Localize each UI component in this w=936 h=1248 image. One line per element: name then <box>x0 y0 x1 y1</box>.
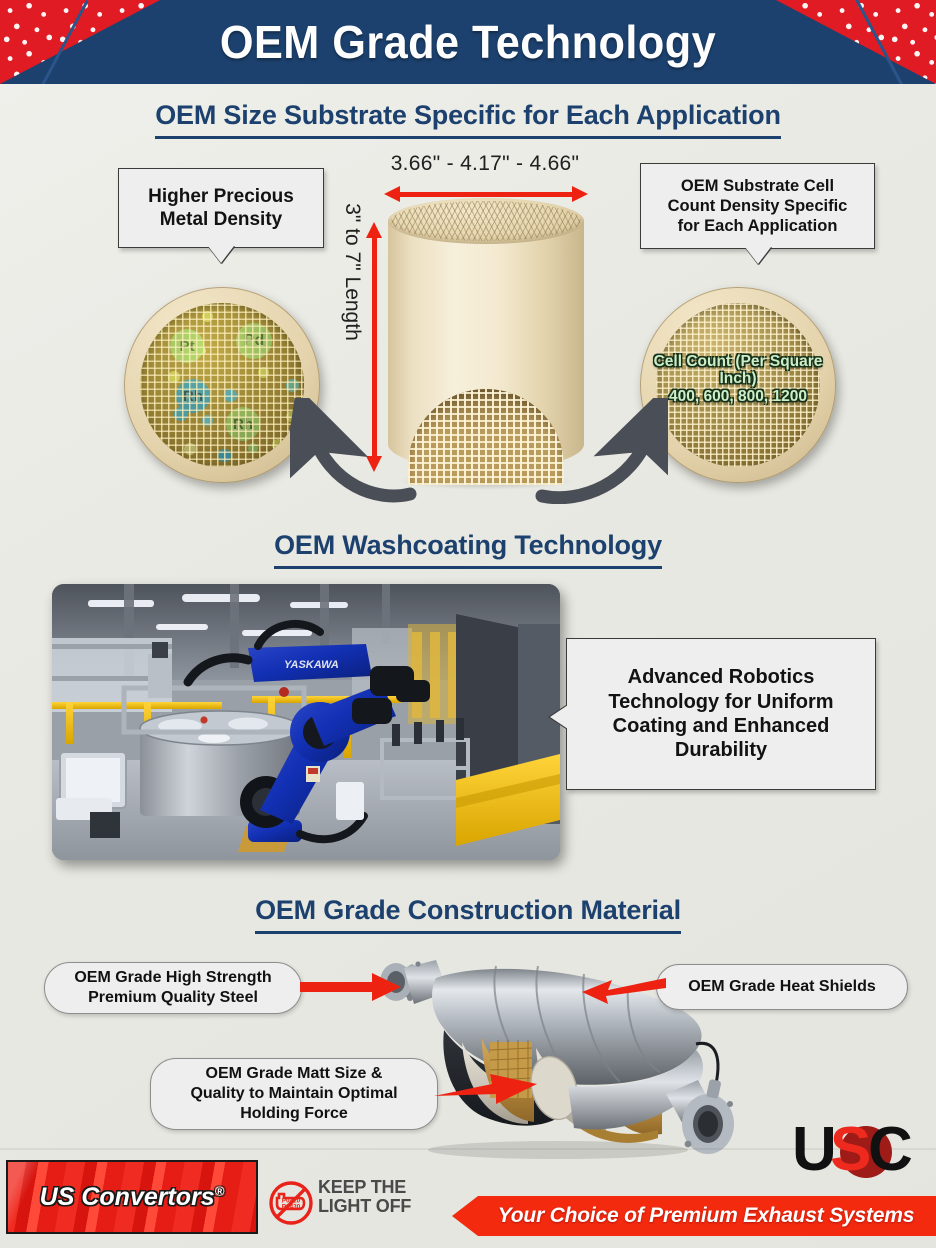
callout-line: Count Density Specific <box>668 196 848 216</box>
callout-line: Higher Precious <box>148 185 294 208</box>
cell-count-values: 400, 600, 800, 1200 <box>640 388 836 405</box>
callout-high-strength-steel: OEM Grade High Strength Premium Quality … <box>44 962 302 1014</box>
infographic-page: OEM Grade Technology OEM Size Substrate … <box>0 0 936 1248</box>
callout-advanced-robotics: Advanced Robotics Technology for Uniform… <box>566 638 876 790</box>
callout-line: OEM Grade Matt Size & <box>190 1064 397 1084</box>
callout-higher-precious-metal-density: Higher Precious Metal Density <box>118 168 324 248</box>
callout-line: Technology for Uniform <box>608 690 833 714</box>
length-label: 3" to 7" Length <box>340 182 364 362</box>
no-check-engine-light-icon: P0420 P0430 <box>268 1180 314 1226</box>
callout-line: Metal Density <box>148 208 294 231</box>
callout-heat-shields: OEM Grade Heat Shields <box>656 964 908 1010</box>
metal-dot-rh-green: Rh <box>226 407 260 441</box>
usc-logo: U S C <box>790 1112 928 1184</box>
brand-name: US Convertors <box>40 1183 215 1211</box>
section-heading-washcoating-text: OEM Washcoating Technology <box>274 530 662 569</box>
pointer-arrow-matt <box>434 1072 538 1106</box>
section-heading-substrate-text: OEM Size Substrate Specific for Each App… <box>155 100 781 139</box>
section-heading-substrate: OEM Size Substrate Specific for Each App… <box>0 100 936 139</box>
callout-line: Quality to Maintain Optimal <box>190 1084 397 1104</box>
page-title: OEM Grade Technology <box>28 0 908 84</box>
washcoating-robot-photo: YASKAWA <box>52 584 560 860</box>
keep-light-off-text: KEEP THE LIGHT OFF <box>318 1178 411 1216</box>
cell-count-title: Cell Count (Per Square Inch) <box>640 353 836 388</box>
callout-line: OEM Substrate Cell <box>668 176 848 196</box>
diameter-label: 3.66" - 4.17" - 4.66" <box>330 152 640 176</box>
keep-light-line-2: LIGHT OFF <box>318 1197 411 1216</box>
pointer-arrow-to-left-circle <box>290 398 420 504</box>
cell-count-caption: Cell Count (Per Square Inch) 400, 600, 8… <box>640 353 836 405</box>
callout-matt-size-quality: OEM Grade Matt Size & Quality to Maintai… <box>150 1058 438 1130</box>
callout-line: Durability <box>608 738 833 762</box>
callout-line: Advanced Robotics <box>608 665 833 689</box>
brand-logo-box: US Convertors® <box>6 1160 258 1234</box>
tagline-banner: Your Choice of Premium Exhaust Systems <box>452 1196 936 1236</box>
section-heading-construction-text: OEM Grade Construction Material <box>255 895 681 934</box>
pointer-arrow-to-right-circle <box>528 398 668 504</box>
usc-logo-s: S <box>830 1115 871 1184</box>
callout-line: Holding Force <box>190 1104 397 1124</box>
tagline-text: Your Choice of Premium Exhaust Systems <box>480 1204 914 1228</box>
callout-line: for Each Application <box>668 216 848 236</box>
callout-line: Premium Quality Steel <box>74 988 271 1008</box>
metal-dot-rh-blue: Rh <box>176 379 210 413</box>
metal-dot-pd: Pd <box>236 323 272 359</box>
callout-line: OEM Grade High Strength <box>74 968 271 988</box>
pointer-arrow-steel <box>300 972 402 1002</box>
keep-light-off-badge: P0420 P0430 KEEP THE LIGHT OFF <box>268 1176 436 1228</box>
keep-light-line-1: KEEP THE <box>318 1178 411 1197</box>
callout-oem-substrate-cell-count: OEM Substrate Cell Count Density Specifi… <box>640 163 875 249</box>
usc-logo-c: C <box>868 1115 913 1184</box>
section-heading-washcoating: OEM Washcoating Technology <box>0 530 936 569</box>
robot-brand-label: YASKAWA <box>284 659 339 671</box>
section-heading-construction: OEM Grade Construction Material <box>0 895 936 934</box>
substrate-honeycomb-top <box>388 198 584 244</box>
callout-line: Coating and Enhanced <box>608 714 833 738</box>
magnified-circle-cell-count: Cell Count (Per Square Inch) 400, 600, 8… <box>640 287 836 483</box>
metal-dot-pt: Pt <box>170 329 204 363</box>
callout-line: OEM Grade Heat Shields <box>688 977 876 997</box>
registered-mark: ® <box>215 1183 225 1198</box>
brand-logo-text: US Convertors® <box>40 1183 225 1212</box>
page-header: OEM Grade Technology <box>0 0 936 84</box>
pointer-arrow-heat-shields <box>582 972 666 1006</box>
